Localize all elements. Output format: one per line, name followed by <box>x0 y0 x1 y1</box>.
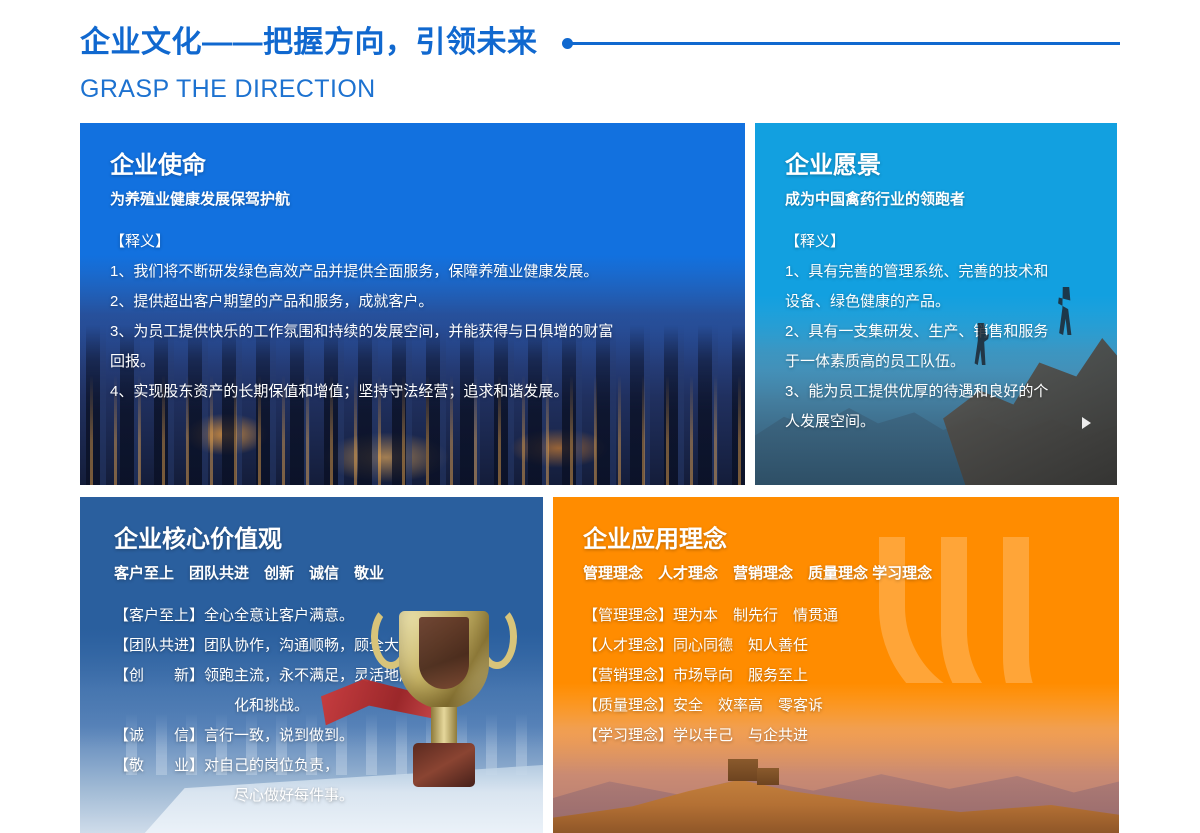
card-ideas-body: 企业应用理念 管理理念 人才理念 营销理念 质量理念 学习理念 【管理理念】理为… <box>553 497 1119 751</box>
card-vision-line-3: 2、具有一支集研发、生产、销售和服务 <box>785 317 1087 347</box>
card-values-title: 企业核心价值观 <box>114 523 513 557</box>
horizontal-rule <box>572 42 1121 45</box>
page-header: 企业文化——把握方向，引领未来 GRASP THE DIRECTION <box>80 22 1120 112</box>
card-mission-slogan: 为养殖业健康发展保驾护航 <box>110 187 715 213</box>
trophy-icon <box>369 583 519 833</box>
card-vision-slogan: 成为中国禽药行业的领跑者 <box>785 187 1087 213</box>
card-corporate-mission[interactable]: 企业使命 为养殖业健康发展保驾护航 【释义】 1、我们将不断研发绿色高效产品并提… <box>80 123 745 485</box>
card-mission-body: 企业使命 为养殖业健康发展保驾护航 【释义】 1、我们将不断研发绿色高效产品并提… <box>80 123 745 407</box>
card-vision-line-5: 3、能为员工提供优厚的待遇和良好的个 <box>785 377 1087 407</box>
grid-gap <box>543 497 553 833</box>
card-ideas-line-2: 【人才理念】同心同德 知人善任 <box>583 631 1089 661</box>
card-mission-line-4: 回报。 <box>110 347 715 377</box>
great-wall-tower-main <box>728 759 758 781</box>
card-mission-line-3: 3、为员工提供快乐的工作氛围和持续的发展空间，并能获得与日俱增的财富 <box>110 317 715 347</box>
card-ideas-slogan: 管理理念 人才理念 营销理念 质量理念 学习理念 <box>583 561 1089 587</box>
card-corporate-vision[interactable]: 企业愿景 成为中国禽药行业的领跑者 【释义】 1、具有完善的管理系统、完善的技术… <box>755 123 1117 485</box>
header-title-row: 企业文化——把握方向，引领未来 <box>80 22 1120 64</box>
card-mission-line-2: 2、提供超出客户期望的产品和服务，成就客户。 <box>110 287 715 317</box>
card-vision-line-4: 于一体素质高的员工队伍。 <box>785 347 1087 377</box>
card-vision-body: 企业愿景 成为中国禽药行业的领跑者 【释义】 1、具有完善的管理系统、完善的技术… <box>755 123 1117 437</box>
card-vision-line-1: 1、具有完善的管理系统、完善的技术和 <box>785 257 1087 287</box>
card-vision-line-2: 设备、绿色健康的产品。 <box>785 287 1087 317</box>
header-divider <box>562 37 1121 49</box>
page-subtitle: GRASP THE DIRECTION <box>80 74 1120 104</box>
card-mission-title: 企业使命 <box>110 149 715 183</box>
trophy-base <box>413 743 475 787</box>
card-mission-line-1: 1、我们将不断研发绿色高效产品并提供全面服务，保障养殖业健康发展。 <box>110 257 715 287</box>
card-ideas-line-5: 【学习理念】学以丰己 与企共进 <box>583 721 1089 751</box>
trophy-cup-inner <box>419 617 469 689</box>
card-ideas-line-4: 【质量理念】安全 效率高 零客诉 <box>583 691 1089 721</box>
culture-card-grid: 企业使命 为养殖业健康发展保驾护航 【释义】 1、我们将不断研发绿色高效产品并提… <box>80 123 1117 833</box>
card-mission-section-label: 【释义】 <box>110 227 715 257</box>
great-wall-tower-secondary <box>757 768 779 785</box>
trophy-stem <box>431 707 457 747</box>
card-core-values[interactable]: 企业核心价值观 客户至上 团队共进 创新 诚信 敬业 【客户至上】全心全意让客户… <box>80 497 543 833</box>
card-vision-line-6: 人发展空间。 <box>785 407 1087 437</box>
card-vision-section-label: 【释义】 <box>785 227 1087 257</box>
card-mission-line-5: 4、实现股东资产的长期保值和增值；坚持守法经营；追求和谐发展。 <box>110 377 715 407</box>
page-title: 企业文化——把握方向，引领未来 <box>80 22 538 64</box>
card-ideas-title: 企业应用理念 <box>583 523 1089 557</box>
card-ideas-line-1: 【管理理念】理为本 制先行 情贯通 <box>583 601 1089 631</box>
play-triangle-icon[interactable] <box>1082 417 1091 429</box>
corporate-culture-page: 企业文化——把握方向，引领未来 GRASP THE DIRECTION 企业使命… <box>0 0 1200 833</box>
card-vision-title: 企业愿景 <box>785 149 1087 183</box>
card-application-philosophy[interactable]: 企业应用理念 管理理念 人才理念 营销理念 质量理念 学习理念 【管理理念】理为… <box>553 497 1119 833</box>
grid-gap <box>745 123 755 485</box>
card-row-top: 企业使命 为养殖业健康发展保驾护航 【释义】 1、我们将不断研发绿色高效产品并提… <box>80 123 1117 485</box>
card-row-bottom: 企业核心价值观 客户至上 团队共进 创新 诚信 敬业 【客户至上】全心全意让客户… <box>80 497 1117 833</box>
card-ideas-line-3: 【营销理念】市场导向 服务至上 <box>583 661 1089 691</box>
